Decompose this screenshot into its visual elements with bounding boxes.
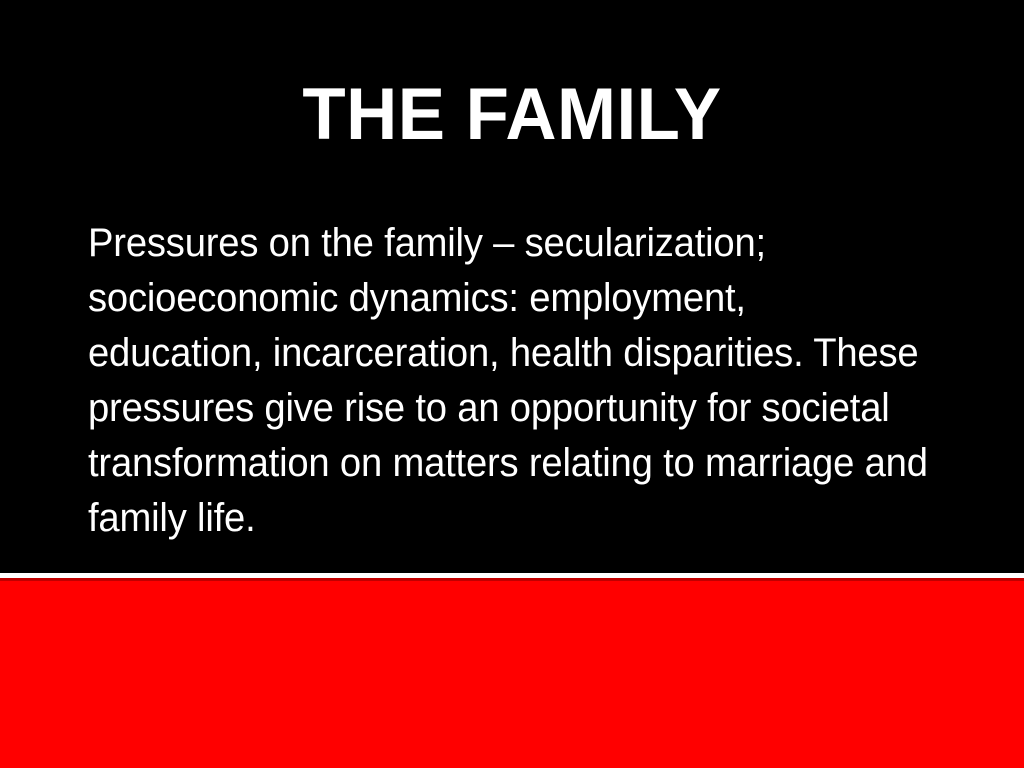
slide-body-text: Pressures on the family – secularization… (88, 216, 928, 546)
slide-content-area: THE FAMILY Pressures on the family – sec… (0, 0, 1024, 573)
slide: THE FAMILY Pressures on the family – sec… (0, 0, 1024, 768)
page-title: THE FAMILY (15, 72, 1008, 158)
red-banner: African American Family (0, 581, 1024, 768)
